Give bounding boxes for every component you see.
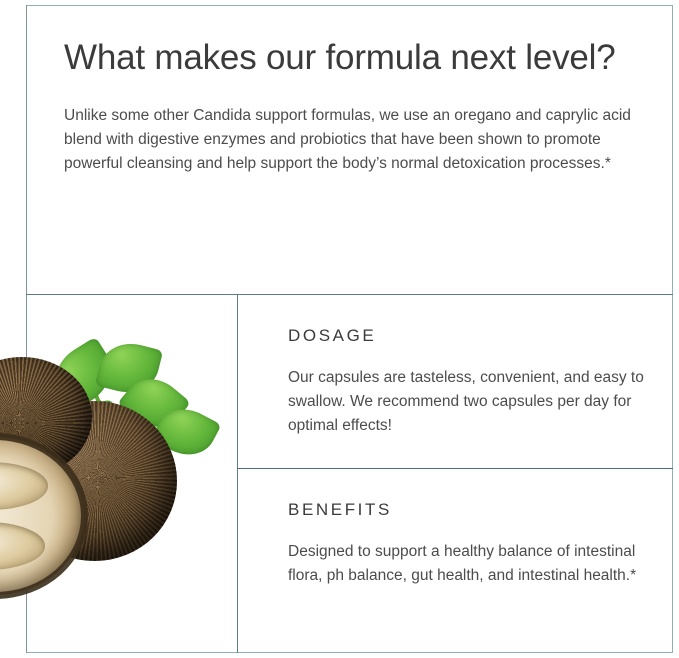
panel-border-bottom — [26, 652, 673, 653]
section-title-benefits: BENEFITS — [288, 500, 648, 520]
divider-dosage-benefits — [237, 468, 673, 469]
intro-block: What makes our formula next level? Unlik… — [64, 36, 634, 176]
panel-border-top — [26, 5, 673, 6]
product-image-cell — [0, 295, 237, 652]
section-body-dosage: Our capsules are tasteless, convenient, … — [288, 366, 648, 438]
intro-paragraph: Unlike some other Candida support formul… — [64, 104, 634, 176]
divider-image-text — [237, 294, 238, 653]
section-body-benefits: Designed to support a healthy balance of… — [288, 540, 648, 588]
black-walnut-and-oregano-photo — [0, 333, 237, 603]
section-benefits: BENEFITS Designed to support a healthy b… — [288, 500, 648, 588]
section-title-dosage: DOSAGE — [288, 326, 648, 346]
section-dosage: DOSAGE Our capsules are tasteless, conve… — [288, 326, 648, 438]
page-title: What makes our formula next level? — [64, 36, 634, 80]
panel-border-right — [672, 5, 673, 653]
product-info-panel: What makes our formula next level? Unlik… — [0, 0, 679, 658]
